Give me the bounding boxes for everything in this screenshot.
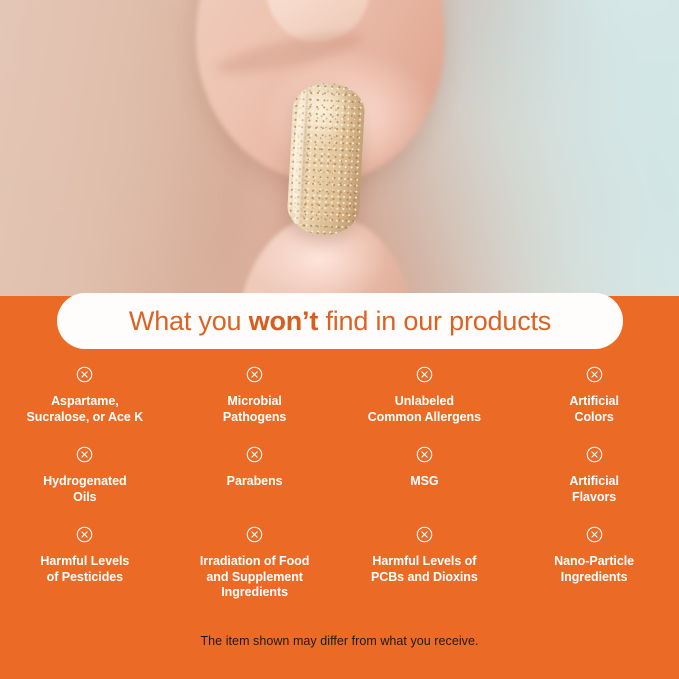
headline-prefix: What you — [129, 306, 249, 336]
grid-row: Harmful Levels of Pesticides Irradiation… — [0, 526, 679, 612]
grid-item-pcbs-dioxins: Harmful Levels of PCBs and Dioxins — [340, 526, 510, 612]
headline-emphasis: won’t — [249, 306, 318, 336]
headline-suffix: find in our products — [318, 306, 551, 336]
disclaimer-text: The item shown may differ from what you … — [0, 634, 679, 648]
grid-item-label: Unlabeled Common Allergens — [368, 394, 481, 425]
headline-text: What you won’t find in our products — [129, 306, 551, 337]
grid-item-aspartame: Aspartame, Sucralose, or Ace K — [0, 366, 170, 446]
hero-photo — [0, 0, 679, 296]
headline-banner: What you won’t find in our products — [57, 293, 623, 349]
grid-item-microbial-pathogens: Microbial Pathogens — [170, 366, 340, 446]
grid-item-label: Parabens — [227, 474, 283, 490]
grid-item-pesticides: Harmful Levels of Pesticides — [0, 526, 170, 612]
grid-item-msg: MSG — [340, 446, 510, 526]
circle-x-icon — [586, 446, 603, 463]
grid-item-label: Harmful Levels of PCBs and Dioxins — [371, 554, 478, 585]
grid-item-parabens: Parabens — [170, 446, 340, 526]
grid-item-irradiation: Irradiation of Food and Supplement Ingre… — [170, 526, 340, 612]
grid-item-hydrogenated-oils: Hydrogenated Oils — [0, 446, 170, 526]
circle-x-icon — [416, 526, 433, 543]
grid-item-label: Artificial Colors — [569, 394, 619, 425]
circle-x-icon — [246, 366, 263, 383]
circle-x-icon — [76, 526, 93, 543]
circle-x-icon — [586, 366, 603, 383]
circle-x-icon — [416, 366, 433, 383]
grid-item-label: Irradiation of Food and Supplement Ingre… — [200, 554, 309, 601]
grid-item-artificial-flavors: Artificial Flavors — [509, 446, 679, 526]
circle-x-icon — [416, 446, 433, 463]
grid-item-artificial-colors: Artificial Colors — [509, 366, 679, 446]
circle-x-icon — [586, 526, 603, 543]
grid-item-label: MSG — [410, 474, 438, 490]
grid-item-label: Artificial Flavors — [569, 474, 619, 505]
circle-x-icon — [76, 446, 93, 463]
product-infographic: What you won’t find in our products Aspa… — [0, 0, 679, 679]
grid-row: Aspartame, Sucralose, or Ace K Microbial… — [0, 366, 679, 446]
grid-row: Hydrogenated Oils Parabens MSG Artificia… — [0, 446, 679, 526]
grid-item-label: Harmful Levels of Pesticides — [40, 554, 129, 585]
grid-item-unlabeled-allergens: Unlabeled Common Allergens — [340, 366, 510, 446]
grid-item-nano-particle: Nano-Particle Ingredients — [509, 526, 679, 612]
grid-item-label: Nano-Particle Ingredients — [554, 554, 634, 585]
circle-x-icon — [246, 446, 263, 463]
circle-x-icon — [76, 366, 93, 383]
grid-item-label: Hydrogenated Oils — [43, 474, 126, 505]
supplement-tablet — [286, 81, 366, 237]
grid-item-label: Aspartame, Sucralose, or Ace K — [27, 394, 144, 425]
grid-item-label: Microbial Pathogens — [223, 394, 286, 425]
circle-x-icon — [246, 526, 263, 543]
excluded-ingredients-grid: Aspartame, Sucralose, or Ace K Microbial… — [0, 366, 679, 612]
